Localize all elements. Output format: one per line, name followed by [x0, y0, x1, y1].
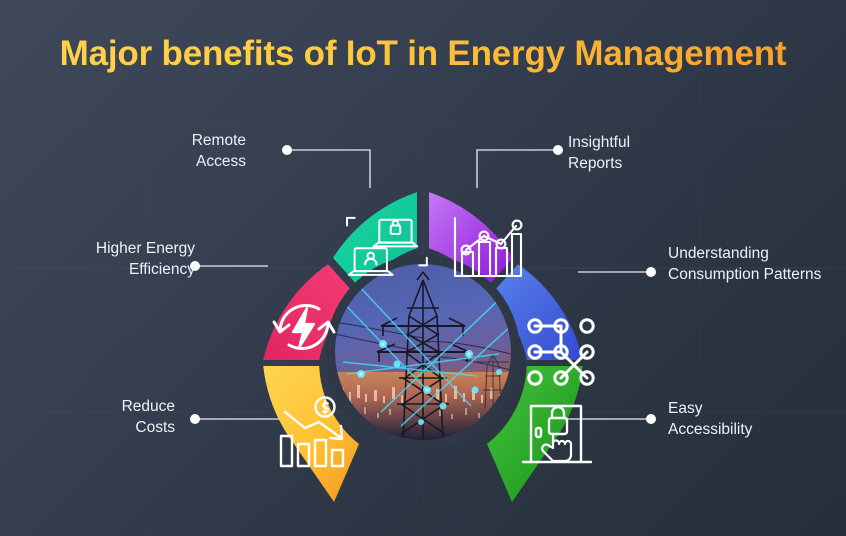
label-higher-energy-efficiency: Higher Energy Efficiency: [96, 239, 195, 280]
center-photo: [326, 255, 520, 449]
dot-easy-accessibility: [646, 414, 656, 424]
page-title: Major benefits of IoT in Energy Manageme…: [0, 34, 846, 74]
label-reduce-costs-line1: Reduce: [122, 397, 175, 418]
label-reduce-costs: Reduce Costs: [122, 397, 175, 438]
label-remote-access-line2: Access: [192, 152, 246, 173]
benefits-wheel: [231, 176, 615, 512]
label-reduce-costs-line2: Costs: [122, 418, 175, 439]
label-remote-access: Remote Access: [192, 131, 246, 172]
label-understanding-consumption-line1: Understanding: [668, 244, 821, 265]
label-higher-energy-efficiency-line2: Efficiency: [96, 260, 195, 281]
label-insightful-reports: Insightful Reports: [568, 133, 630, 174]
label-remote-access-line1: Remote: [192, 131, 246, 152]
label-insightful-reports-line1: Insightful: [568, 133, 630, 154]
dot-reduce-costs: [190, 414, 200, 424]
dot-understanding-consumption: [646, 267, 656, 277]
label-easy-accessibility: Easy Accessibility: [668, 399, 752, 440]
dot-insightful-reports: [553, 145, 563, 155]
label-insightful-reports-line2: Reports: [568, 154, 630, 175]
label-higher-energy-efficiency-line1: Higher Energy: [96, 239, 195, 260]
label-easy-accessibility-line2: Accessibility: [668, 420, 752, 441]
dot-remote-access: [282, 145, 292, 155]
infographic-canvas: Major benefits of IoT in Energy Manageme…: [0, 0, 846, 536]
label-easy-accessibility-line1: Easy: [668, 399, 752, 420]
label-understanding-consumption: Understanding Consumption Patterns: [668, 244, 821, 285]
label-understanding-consumption-line2: Consumption Patterns: [668, 265, 821, 286]
